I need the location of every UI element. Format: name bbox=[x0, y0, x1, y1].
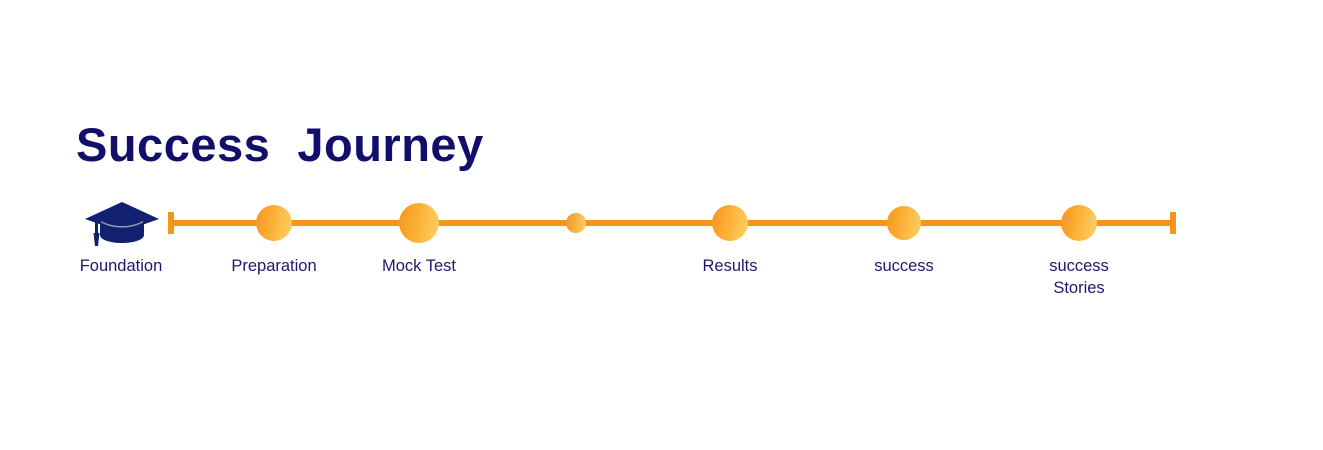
timeline-node-dot[interactable] bbox=[256, 205, 292, 241]
timeline-node-label: success Stories bbox=[969, 255, 1189, 299]
timeline-track bbox=[168, 220, 1174, 226]
timeline: FoundationPreparationMock TestResultssuc… bbox=[0, 0, 1323, 450]
timeline-node-dot[interactable] bbox=[399, 203, 439, 243]
success-journey-infographic: Success Journey FoundationPreparationMoc… bbox=[0, 0, 1323, 450]
timeline-node-label: Mock Test bbox=[309, 255, 529, 277]
timeline-node-dot[interactable] bbox=[566, 213, 586, 233]
timeline-node-dot[interactable] bbox=[1061, 205, 1097, 241]
timeline-node-dot[interactable] bbox=[712, 205, 748, 241]
timeline-start-cap bbox=[168, 212, 174, 234]
timeline-node-dot[interactable] bbox=[887, 206, 921, 240]
timeline-end-cap bbox=[1170, 212, 1176, 234]
